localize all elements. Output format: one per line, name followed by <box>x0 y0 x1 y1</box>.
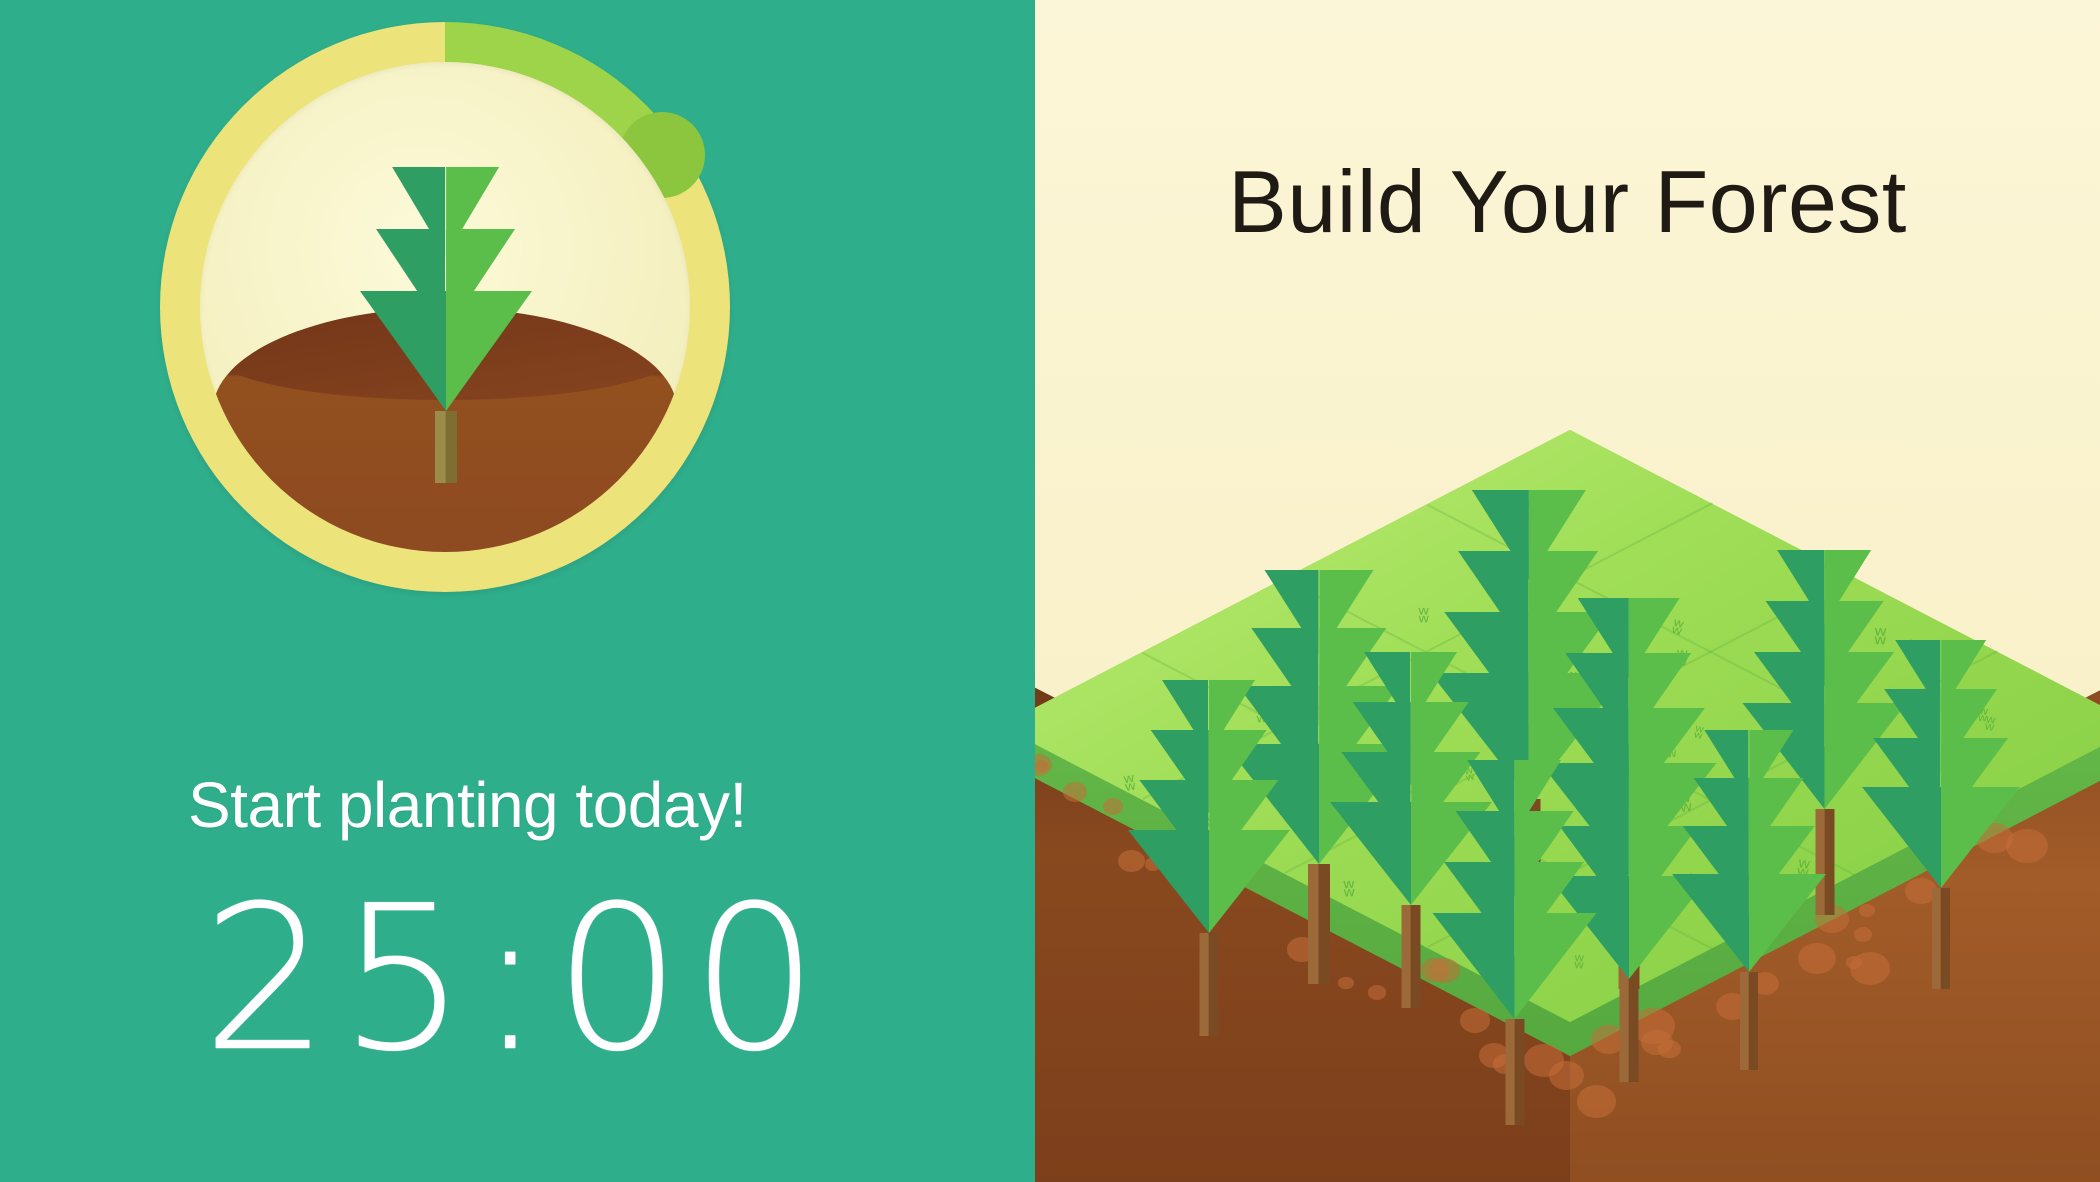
tree-tier <box>1162 680 1256 754</box>
sapling-tree-icon <box>360 167 532 483</box>
tree-trunk <box>1505 1019 1524 1125</box>
tree-tier <box>1471 490 1585 580</box>
timer-separator: : <box>477 863 554 1096</box>
grass-tuft: ʬ <box>1418 604 1430 626</box>
tagline-text: Start planting today! <box>188 768 747 842</box>
page-title: Build Your Forest <box>1035 151 2100 253</box>
app-root: Start planting today! 25:00 Build Your F… <box>0 0 2100 1182</box>
forest-tree[interactable] <box>1128 680 1290 1036</box>
timer-minutes: 25 <box>202 863 477 1096</box>
tree-trunk <box>1740 972 1758 1070</box>
timer-panel: Start planting today! 25:00 <box>0 0 1035 1182</box>
tree-tier <box>1364 652 1458 726</box>
tree-tier <box>1777 550 1873 626</box>
tree-trunk <box>1308 864 1330 984</box>
forest-panel: Build Your Forest ʬʬʬʬʬʬʬʬʬʬʬʬʬʬʬʬʬʬʬʬʬʬ… <box>1035 0 2100 1182</box>
tree-tier <box>1264 570 1373 656</box>
tree-trunk <box>1932 888 1950 989</box>
forest-tree[interactable] <box>1432 760 1597 1125</box>
dirt-pebble <box>1063 782 1087 801</box>
forest-tree[interactable] <box>1672 730 1826 1070</box>
isometric-forest-block[interactable]: ʬʬʬʬʬʬʬʬʬʬʬʬʬʬʬʬʬʬʬʬʬʬʬʬʬʬʬʬ <box>1035 430 2100 1182</box>
countdown-timer[interactable]: 25:00 <box>202 880 828 1080</box>
tree-trunk <box>1200 933 1219 1036</box>
planting-progress-ring[interactable] <box>160 22 730 592</box>
forest-tree[interactable] <box>1862 640 2020 989</box>
tree-trunk <box>1620 979 1639 1082</box>
timer-seconds: 00 <box>554 863 829 1096</box>
tree-tier <box>1467 760 1563 836</box>
tree-tier <box>1895 640 1987 712</box>
tree-trunk <box>1402 905 1421 1008</box>
tree-trunk <box>435 411 457 483</box>
ring-inner-face <box>200 62 690 552</box>
tree-tier <box>1577 598 1680 679</box>
tree-tier <box>392 167 500 257</box>
tree-tier <box>1704 730 1793 800</box>
